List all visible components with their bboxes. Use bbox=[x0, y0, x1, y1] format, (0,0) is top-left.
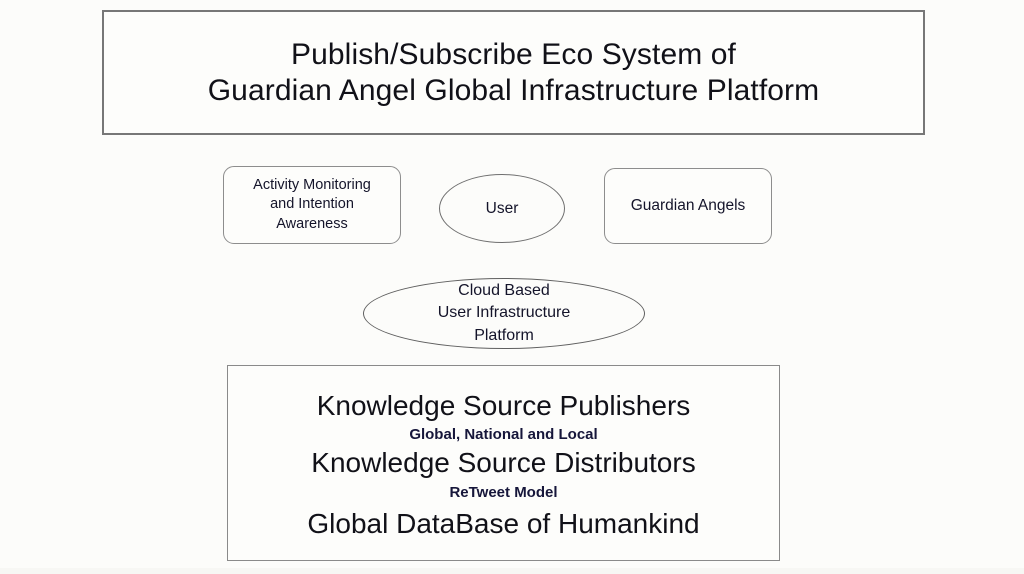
stack-row-database: Global DataBase of Humankind bbox=[307, 509, 699, 539]
page-title: Publish/Subscribe Eco System of Guardian… bbox=[208, 37, 819, 108]
diagram-canvas: Publish/Subscribe Eco System of Guardian… bbox=[0, 0, 1024, 574]
cloud-infrastructure-ellipse: Cloud Based User Infrastructure Platform bbox=[363, 278, 645, 349]
user-ellipse: User bbox=[439, 174, 565, 243]
activity-monitoring-box: Activity Monitoring and Intention Awaren… bbox=[223, 166, 401, 244]
user-label: User bbox=[486, 198, 519, 219]
stack-row-publishers: Knowledge Source Publishers bbox=[317, 391, 691, 421]
stack-row-distributors-model: ReTweet Model bbox=[449, 485, 557, 502]
stack-row-publishers-scope: Global, National and Local bbox=[409, 427, 597, 444]
title-banner: Publish/Subscribe Eco System of Guardian… bbox=[102, 10, 925, 135]
guardian-angels-label: Guardian Angels bbox=[631, 196, 746, 217]
activity-monitoring-label: Activity Monitoring and Intention Awaren… bbox=[253, 176, 371, 234]
stack-row-distributors: Knowledge Source Distributors bbox=[311, 448, 695, 478]
knowledge-stack-box: Knowledge Source Publishers Global, Nati… bbox=[227, 365, 780, 561]
guardian-angels-box: Guardian Angels bbox=[604, 168, 772, 244]
cloud-infrastructure-label: Cloud Based User Infrastructure Platform bbox=[438, 280, 570, 346]
bottom-edge-shade bbox=[0, 568, 1024, 574]
